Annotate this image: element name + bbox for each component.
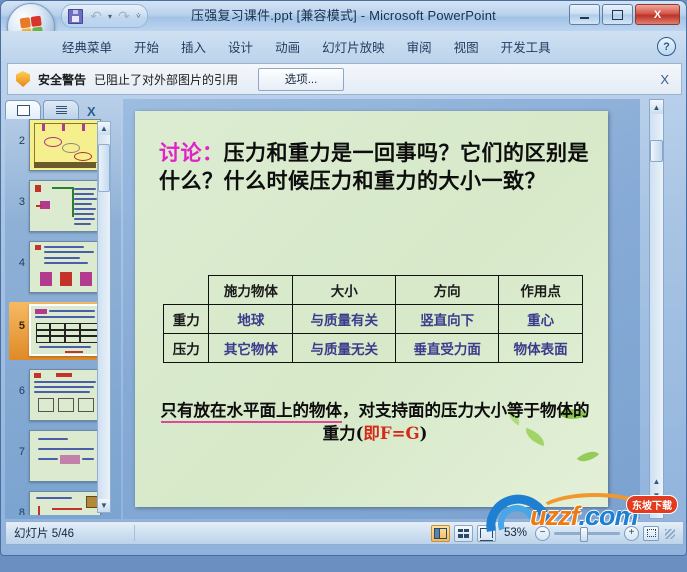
slide-heading[interactable]: 讨论：压力和重力是一回事吗？它们的区别是什么？什么时候压力和重力的大小一致？: [159, 139, 589, 194]
save-icon[interactable]: [66, 7, 84, 25]
resize-grip[interactable]: [663, 527, 675, 539]
slide-sorter-icon: [458, 529, 469, 538]
zoom-level[interactable]: 53%: [500, 527, 531, 539]
slide-canvas[interactable]: 讨论：压力和重力是一回事吗？它们的区别是什么？什么时候压力和重力的大小一致？ 施…: [135, 111, 608, 507]
slide-counter: 幻灯片 5/46: [6, 525, 134, 541]
table-cell: 物体表面: [499, 334, 583, 363]
table-header-row: 施力物体 大小 方向 作用点: [164, 276, 583, 305]
shield-icon: [16, 71, 30, 87]
table-header-cell: 作用点: [499, 276, 583, 305]
table-header-cell: 施力物体: [209, 276, 293, 305]
footer-tail: ): [420, 424, 428, 443]
table-cell: 竖直向下: [396, 305, 499, 334]
thumbnail-number: 6: [9, 369, 29, 397]
normal-view-icon: [434, 528, 447, 539]
tab-insert[interactable]: 插入: [170, 33, 217, 60]
outline-view-icon: [56, 106, 67, 115]
table-cell: 与质量无关: [293, 334, 396, 363]
scroll-up-icon[interactable]: ▲: [98, 122, 110, 135]
tab-slideshow[interactable]: 幻灯片放映: [311, 33, 396, 60]
scroll-up-icon[interactable]: ▲: [650, 100, 663, 114]
qat-customize-icon[interactable]: ⩒: [136, 11, 141, 21]
table-row-label: 压力: [164, 334, 209, 363]
status-bar-right: 53% − +: [431, 525, 683, 542]
table-corner-cell: [164, 276, 209, 305]
zoom-out-button[interactable]: −: [535, 526, 550, 541]
list-item[interactable]: 2: [9, 119, 109, 171]
thumbnail-preview[interactable]: [29, 369, 101, 421]
undo-icon[interactable]: ↶: [87, 7, 105, 25]
tab-design[interactable]: 设计: [217, 33, 264, 60]
view-sorter-button[interactable]: [454, 525, 473, 542]
zoom-in-button[interactable]: +: [624, 526, 639, 541]
status-bar: 幻灯片 5/46 53% − +: [5, 521, 684, 545]
tab-view[interactable]: 视图: [443, 33, 490, 60]
powerpoint-window: 压强复习课件.ppt [兼容模式] - Microsoft PowerPoint…: [0, 0, 687, 556]
footer-formula: 即F=G: [363, 424, 419, 443]
view-normal-button[interactable]: [431, 525, 450, 542]
thumbnail-preview[interactable]: [29, 304, 101, 356]
scrollbar-thumb[interactable]: [98, 144, 110, 192]
quick-access-toolbar: ↶ ▾ ↷ ⩒: [61, 4, 148, 28]
comparison-table[interactable]: 施力物体 大小 方向 作用点 重力 地球 与质量有关 竖直向下 重心 压力 其它…: [163, 275, 583, 363]
zoom-slider[interactable]: [554, 532, 620, 535]
table-cell: 垂直受力面: [396, 334, 499, 363]
redo-icon[interactable]: ↷: [115, 7, 133, 25]
ribbon-tab-strip: 经典菜单 开始 插入 设计 动画 幻灯片放映 审阅 视图 开发工具 ?: [1, 31, 686, 61]
fit-slide-button[interactable]: [643, 526, 659, 541]
table-row: 重力 地球 与质量有关 竖直向下 重心: [164, 305, 583, 334]
table-row: 压力 其它物体 与质量无关 垂直受力面 物体表面: [164, 334, 583, 363]
list-item[interactable]: 8: [9, 491, 109, 515]
security-options-button[interactable]: 选项...: [258, 68, 344, 91]
thumbnail-number: 5: [9, 304, 29, 332]
tab-home[interactable]: 开始: [123, 33, 170, 60]
thumbnail-list[interactable]: 2 3: [9, 119, 109, 515]
maximize-button[interactable]: [602, 4, 633, 25]
thumbnail-number: 4: [9, 241, 29, 269]
thumbnail-number: 3: [9, 180, 29, 208]
security-warning-message: 已阻止了对外部图片的引用: [94, 71, 238, 88]
scrollbar-thumb[interactable]: [650, 140, 663, 162]
thumbnail-preview[interactable]: [29, 241, 101, 293]
footer-underlined-phrase: 只有放在水平面上的物体: [161, 401, 343, 423]
table-header-cell: 大小: [293, 276, 396, 305]
thumbnail-number: 7: [9, 430, 29, 458]
table-cell: 其它物体: [209, 334, 293, 363]
thumbnail-preview[interactable]: [29, 180, 101, 232]
thumbnail-pane-scrollbar[interactable]: ▲ ▼: [97, 121, 111, 513]
title-bar: 压强复习课件.ppt [兼容模式] - Microsoft PowerPoint…: [1, 1, 686, 31]
list-item[interactable]: 6: [9, 369, 109, 421]
table-cell: 重心: [499, 305, 583, 334]
undo-dropdown-icon[interactable]: ▾: [108, 12, 112, 21]
security-bar-close-icon[interactable]: X: [656, 72, 673, 87]
thumbnail-preview[interactable]: [29, 430, 101, 482]
next-slide-icon[interactable]: ▼: [650, 488, 663, 502]
list-item[interactable]: 7: [9, 430, 109, 482]
tab-outline[interactable]: [43, 100, 79, 119]
slides-view-icon: [17, 105, 30, 116]
tab-slides-thumbnails[interactable]: [5, 100, 41, 119]
thumbnail-preview[interactable]: [29, 491, 101, 515]
table-row-label: 重力: [164, 305, 209, 334]
slideshow-icon: [480, 528, 493, 538]
table-cell: 地球: [209, 305, 293, 334]
heading-body: 压力和重力是一回事吗？它们的区别是什么？什么时候压力和重力的大小一致？: [159, 140, 589, 193]
scroll-down-icon[interactable]: ▼: [98, 499, 110, 512]
thumbnail-preview[interactable]: [29, 119, 101, 171]
table-cell: 与质量有关: [293, 305, 396, 334]
list-item-selected[interactable]: 5: [9, 302, 109, 360]
table-header-cell: 方向: [396, 276, 499, 305]
scroll-down-icon[interactable]: ▼: [650, 503, 663, 516]
window-controls: X: [569, 4, 680, 25]
security-warning-bar: 安全警告 已阻止了对外部图片的引用 选项... X: [7, 63, 682, 95]
pane-tab-bar: X: [5, 99, 121, 119]
close-button[interactable]: X: [635, 4, 680, 25]
fit-icon: [647, 529, 656, 537]
thumbnail-number: 2: [9, 119, 29, 147]
zoom-slider-handle[interactable]: [580, 527, 588, 542]
help-icon[interactable]: ?: [657, 37, 676, 56]
slide-footer-text[interactable]: 只有放在水平面上的物体，对支持面的压力大小等于物体的重力(即F=G): [157, 399, 593, 446]
divider: [134, 525, 135, 541]
list-item[interactable]: 3: [9, 180, 109, 232]
list-item[interactable]: 4: [9, 241, 109, 293]
view-slideshow-button[interactable]: [477, 525, 496, 542]
tab-animation[interactable]: 动画: [264, 33, 311, 60]
tab-classic-menu[interactable]: 经典菜单: [51, 33, 123, 60]
leaf-icon: [577, 446, 599, 467]
tab-review[interactable]: 审阅: [396, 33, 443, 60]
slide-scrollbar[interactable]: ▲ ▲ ▼ ▼: [649, 99, 664, 519]
thumbnail-number: 8: [9, 491, 29, 515]
pane-close-icon[interactable]: X: [87, 104, 96, 119]
heading-keyword: 讨论：: [159, 140, 224, 165]
minimize-button[interactable]: [569, 4, 600, 25]
tab-developer[interactable]: 开发工具: [490, 33, 562, 60]
security-warning-title: 安全警告: [38, 71, 86, 88]
slide-workspace: 讨论：压力和重力是一回事吗？它们的区别是什么？什么时候压力和重力的大小一致？ 施…: [123, 99, 640, 519]
previous-slide-icon[interactable]: ▲: [650, 474, 663, 488]
